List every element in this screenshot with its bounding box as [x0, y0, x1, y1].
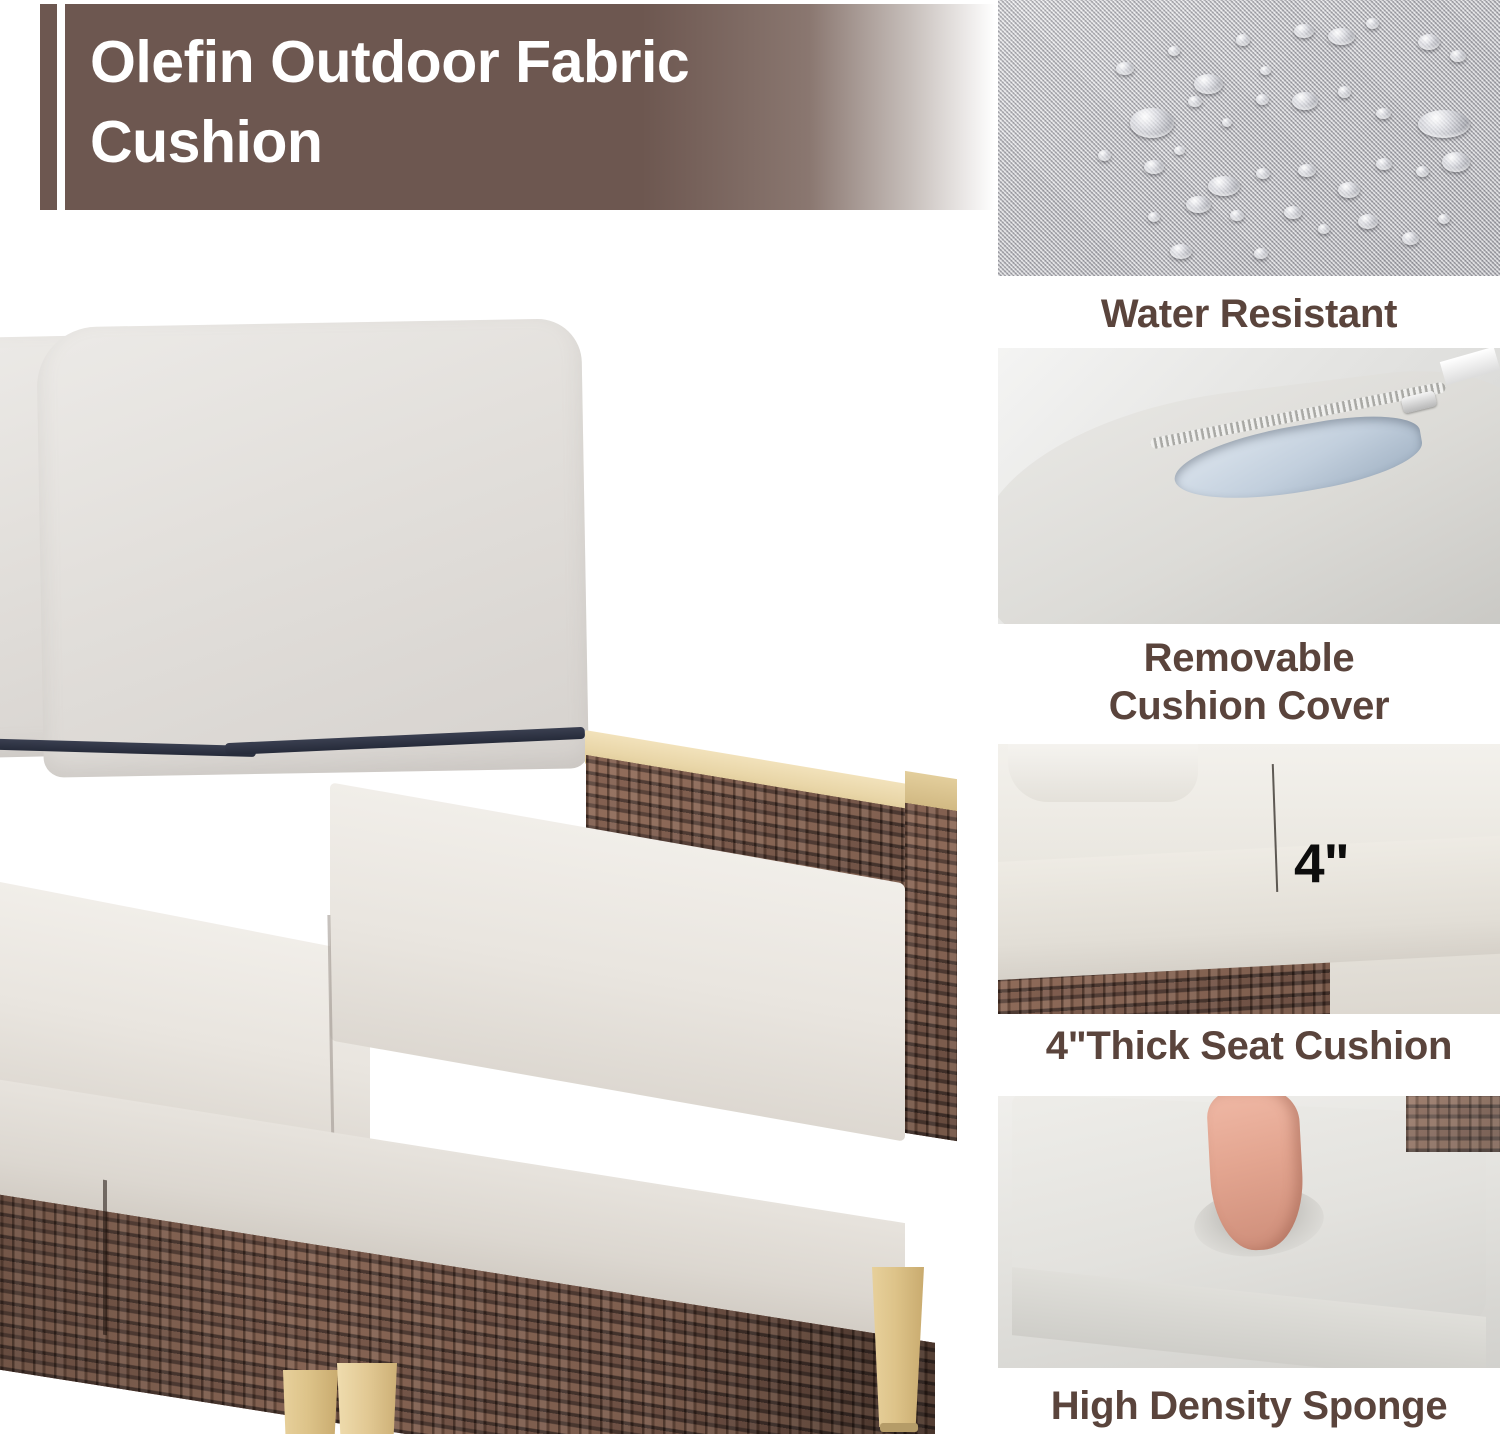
- hero-product-image: [0, 215, 995, 1434]
- rattan-corner: [1406, 1096, 1500, 1152]
- caption-wrap: 4"Thick Seat Cushion: [998, 1014, 1500, 1070]
- sofa-leg-front-left: [283, 1370, 338, 1434]
- thickness-overlay-label: 4": [1294, 836, 1349, 891]
- feature-panel-removable-cover: Removable Cushion Cover: [998, 348, 1500, 730]
- water-resistant-photo: [998, 0, 1500, 276]
- back-cushion-edge: [1008, 744, 1198, 802]
- caption-wrap: Removable Cushion Cover: [998, 624, 1500, 730]
- back-cushion-right: [36, 318, 589, 777]
- page-title: Olefin Outdoor Fabric Cushion: [90, 22, 890, 182]
- high-density-sponge-photo: [998, 1096, 1500, 1368]
- feature-panel-high-density-sponge: High Density Sponge: [998, 1096, 1500, 1430]
- rattan-arm-front: [905, 803, 957, 1141]
- sofa-leg-front-right: [872, 1267, 924, 1427]
- feature-panel-thick-cushion: 4" 4"Thick Seat Cushion: [998, 744, 1500, 1070]
- caption-wrap: High Density Sponge: [998, 1368, 1500, 1430]
- feature-caption-removable-cover: Removable Cushion Cover: [998, 634, 1500, 730]
- feature-caption-water-resistant: Water Resistant: [998, 290, 1500, 338]
- feature-caption-high-density-sponge: High Density Sponge: [998, 1382, 1500, 1430]
- caption-wrap: Water Resistant: [998, 276, 1500, 338]
- product-infographic: Olefin Outdoor Fabric Cushion: [0, 0, 1500, 1434]
- header-accent-bar: [40, 4, 57, 210]
- feature-caption-thick-cushion: 4"Thick Seat Cushion: [998, 1022, 1500, 1070]
- thick-cushion-photo: 4": [998, 744, 1500, 1014]
- removable-cover-photo: [998, 348, 1500, 624]
- leg-foot-right: [880, 1423, 918, 1432]
- feature-panel-water-resistant: Water Resistant: [998, 0, 1500, 338]
- rattan-base-seam: [103, 1180, 107, 1336]
- sofa-leg-front-center: [337, 1363, 397, 1434]
